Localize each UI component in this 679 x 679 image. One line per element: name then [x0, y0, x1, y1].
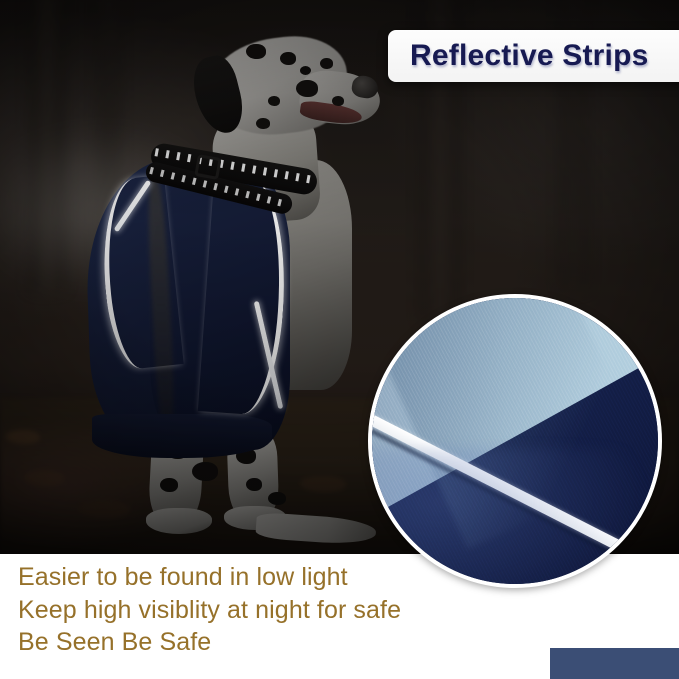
dog-spot: [160, 478, 178, 492]
coat-hem: [92, 414, 272, 458]
caption-line-1: Easier to be found in low light: [18, 562, 401, 593]
harness-buckle: [194, 154, 221, 180]
dog-spot: [280, 52, 296, 65]
dog-spot: [256, 118, 270, 129]
product-image-canvas: Reflective Strips Easier to be found in …: [0, 0, 679, 679]
dog-spot: [268, 492, 286, 505]
dog-spot: [332, 96, 344, 106]
dog-paw: [146, 508, 212, 534]
bottom-right-accent-block: [550, 648, 679, 679]
dog-spot: [320, 58, 333, 69]
dog-front-paw: [255, 512, 377, 546]
inset-navy-sheen: [368, 448, 652, 588]
caption-line-2: Keep high visiblity at night for safe: [18, 595, 401, 626]
fabric-closeup-inset: [368, 294, 662, 588]
dog-spot: [296, 80, 318, 97]
feature-title-text: Reflective Strips: [410, 39, 649, 73]
dog-spot: [246, 44, 266, 59]
dog-spot: [192, 462, 218, 481]
caption-list: Easier to be found in low light Keep hig…: [18, 562, 401, 658]
dog-spot: [246, 478, 262, 491]
feature-title-banner: Reflective Strips: [388, 30, 679, 82]
dog-eye: [300, 66, 311, 75]
caption-line-3: Be Seen Be Safe: [18, 627, 401, 658]
dog-spot: [268, 96, 280, 106]
